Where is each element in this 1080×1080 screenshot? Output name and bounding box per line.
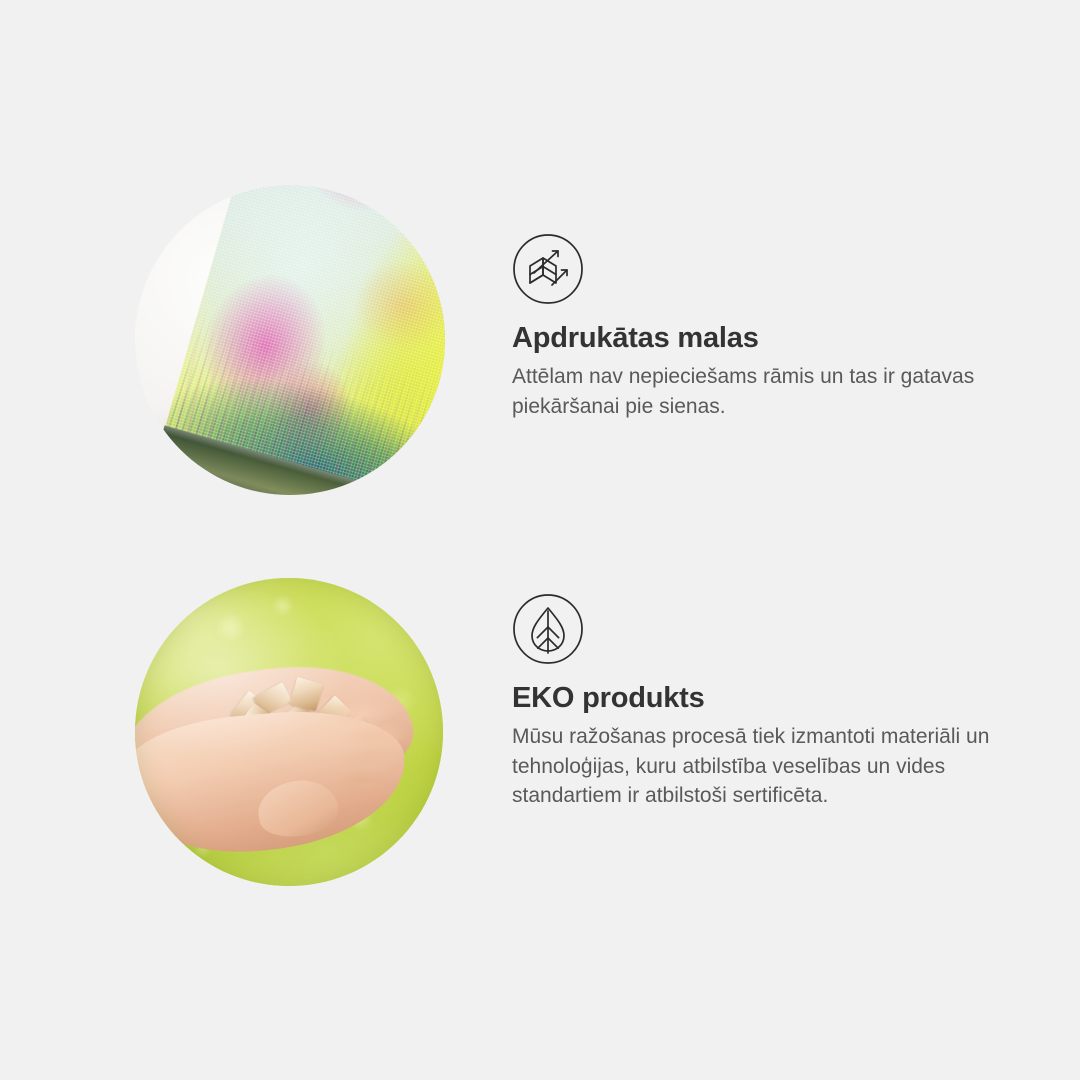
feature-description: Attēlam nav nepieciešams rāmis un tas ir… (512, 362, 1012, 422)
feature-description: Mūsu ražošanas procesā tiek izmantoti ma… (512, 722, 1004, 811)
hands-holding-wood-chips-photo (135, 578, 443, 886)
leaf-icon (512, 593, 584, 665)
feature-title: Apdrukātas malas (512, 305, 1012, 356)
canvas-print-corner-photo (135, 185, 445, 495)
feature-title: EKO produkts (512, 665, 1004, 716)
wrapped-canvas-edge-icon (512, 233, 584, 305)
fingers (321, 689, 441, 792)
feature-printed-edges-content: Apdrukātas malas Attēlam nav nepieciešam… (512, 233, 1012, 421)
promo-page: Apdrukātas malas Attēlam nav nepieciešam… (0, 0, 1080, 1080)
feature-eko-product-content: EKO produkts Mūsu ražošanas procesā tiek… (512, 593, 1004, 811)
